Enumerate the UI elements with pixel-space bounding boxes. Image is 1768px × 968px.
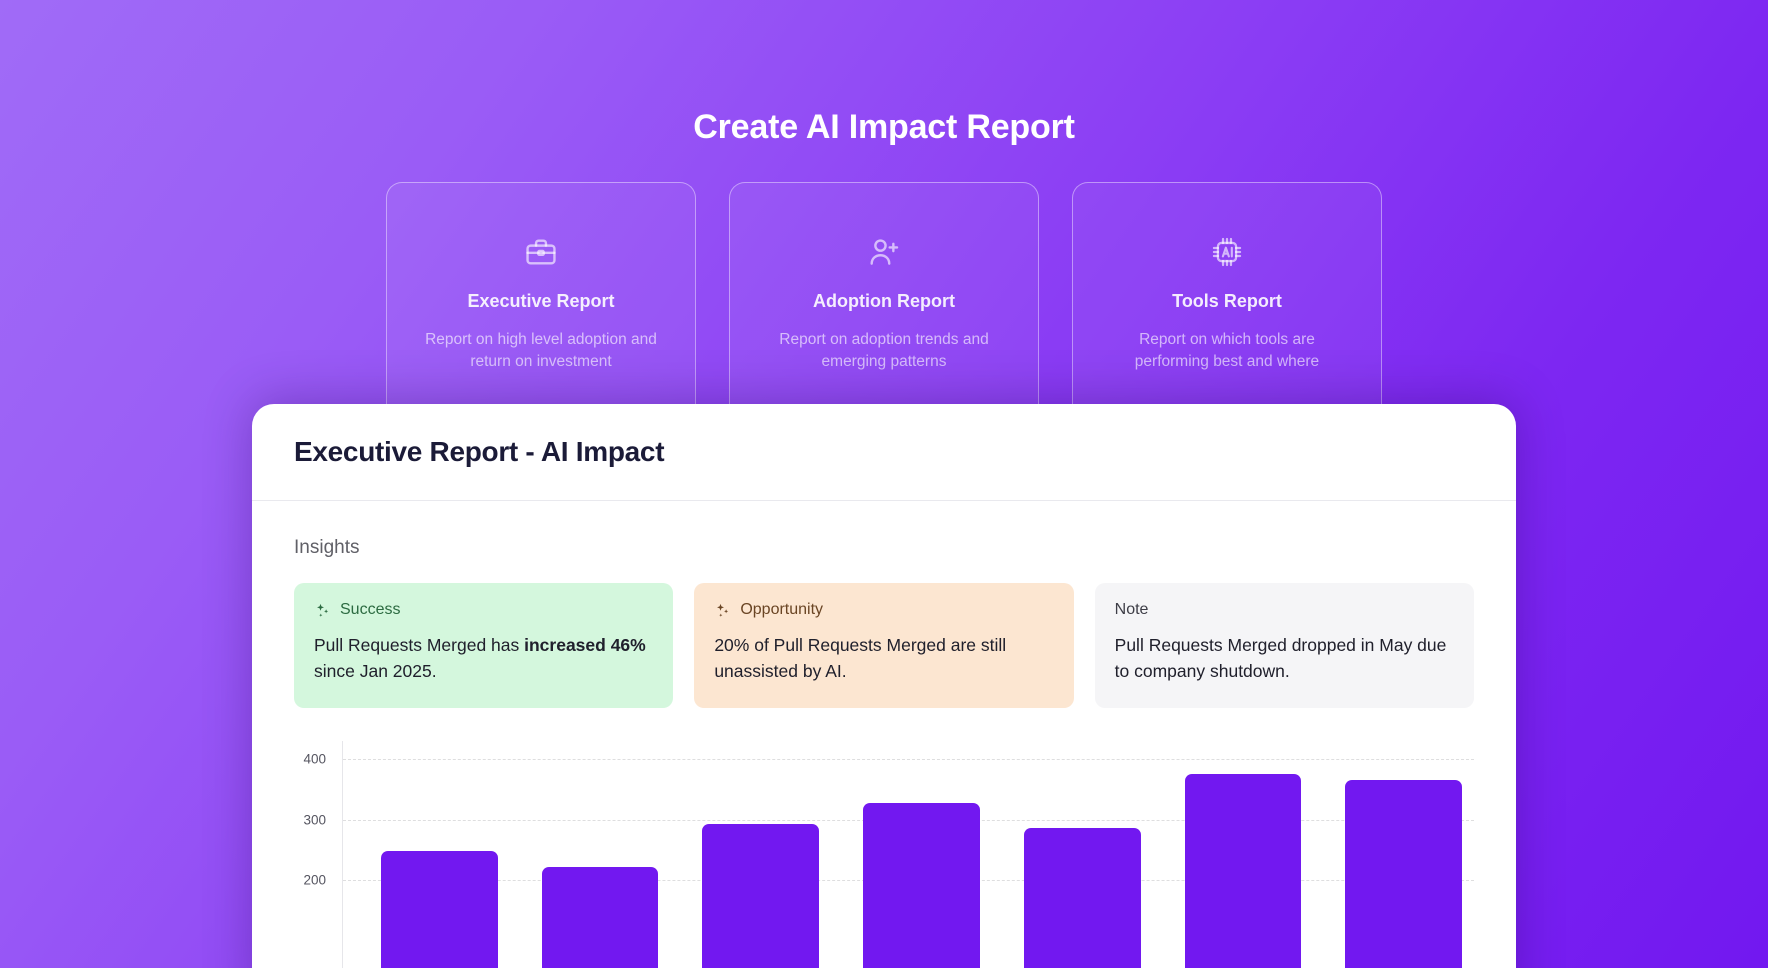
- chart-bar[interactable]: [1185, 774, 1302, 968]
- chart-bar[interactable]: [1024, 828, 1141, 968]
- report-card-title: Tools Report: [1172, 291, 1282, 312]
- chart-y-tick-label: 200: [303, 873, 326, 888]
- insight-card-success: Success Pull Requests Merged has increas…: [294, 583, 673, 708]
- chart-bar[interactable]: [381, 851, 498, 968]
- chart-bars: [343, 741, 1474, 968]
- chart-bar[interactable]: [1345, 780, 1462, 968]
- insight-text-bold: increased 46%: [524, 635, 646, 655]
- chart-y-tick-label: 400: [303, 752, 326, 767]
- person-plus-icon: [867, 235, 901, 269]
- insight-header: Opportunity: [714, 601, 1053, 619]
- chart-y-tick-label: 300: [303, 812, 326, 827]
- chart-bar[interactable]: [702, 824, 819, 968]
- report-card-title: Executive Report: [467, 291, 614, 312]
- insight-text: Pull Requests Merged has increased 46% s…: [314, 633, 653, 684]
- report-card-title: Adoption Report: [813, 291, 955, 312]
- insight-text-after: since Jan 2025.: [314, 661, 437, 681]
- insight-header: Success: [314, 601, 653, 619]
- insight-text: 20% of Pull Requests Merged are still un…: [714, 633, 1053, 684]
- insights-list: Success Pull Requests Merged has increas…: [294, 583, 1474, 708]
- insight-label: Note: [1115, 601, 1149, 619]
- report-card-tools[interactable]: Tools Report Report on which tools are p…: [1072, 182, 1382, 442]
- sparkles-icon: [314, 602, 331, 619]
- chart-plot-area: [342, 741, 1474, 968]
- report-type-cards: Executive Report Report on high level ad…: [386, 182, 1382, 442]
- modal-title: Executive Report - AI Impact: [294, 436, 664, 468]
- modal-header: Executive Report - AI Impact: [252, 404, 1516, 501]
- insight-header: Note: [1115, 601, 1454, 619]
- report-preview-modal: Executive Report - AI Impact Insights: [252, 404, 1516, 968]
- chart-y-axis: 200300400: [294, 741, 334, 968]
- insight-card-opportunity: Opportunity 20% of Pull Requests Merged …: [694, 583, 1073, 708]
- insight-card-note: Note Pull Requests Merged dropped in May…: [1095, 583, 1474, 708]
- app-root: Create AI Impact Report Executive Report…: [0, 0, 1768, 968]
- chart-bar[interactable]: [542, 867, 659, 968]
- modal-body: Insights Success Pull Requests: [252, 537, 1516, 968]
- sparkles-icon: [714, 602, 731, 619]
- report-card-adoption[interactable]: Adoption Report Report on adoption trend…: [729, 182, 1039, 442]
- insight-label: Opportunity: [740, 601, 823, 619]
- pull-requests-merged-bar-chart: 200300400: [294, 741, 1474, 968]
- ai-chip-icon: [1210, 235, 1244, 269]
- report-card-description: Report on adoption trends and emerging p…: [768, 329, 1000, 373]
- insight-label: Success: [340, 601, 400, 619]
- insights-section-label: Insights: [294, 537, 1474, 559]
- chart-bar[interactable]: [863, 803, 980, 968]
- insight-text-before: 20% of Pull Requests Merged are still un…: [714, 635, 1006, 681]
- briefcase-icon: [524, 235, 558, 269]
- insight-text-before: Pull Requests Merged has: [314, 635, 524, 655]
- insight-text-before: Pull Requests Merged dropped in May due …: [1115, 635, 1447, 681]
- page-title: Create AI Impact Report: [0, 108, 1768, 147]
- report-card-description: Report on high level adoption and return…: [425, 329, 657, 373]
- insight-text: Pull Requests Merged dropped in May due …: [1115, 633, 1454, 684]
- report-card-executive[interactable]: Executive Report Report on high level ad…: [386, 182, 696, 442]
- report-card-description: Report on which tools are performing bes…: [1111, 329, 1343, 373]
